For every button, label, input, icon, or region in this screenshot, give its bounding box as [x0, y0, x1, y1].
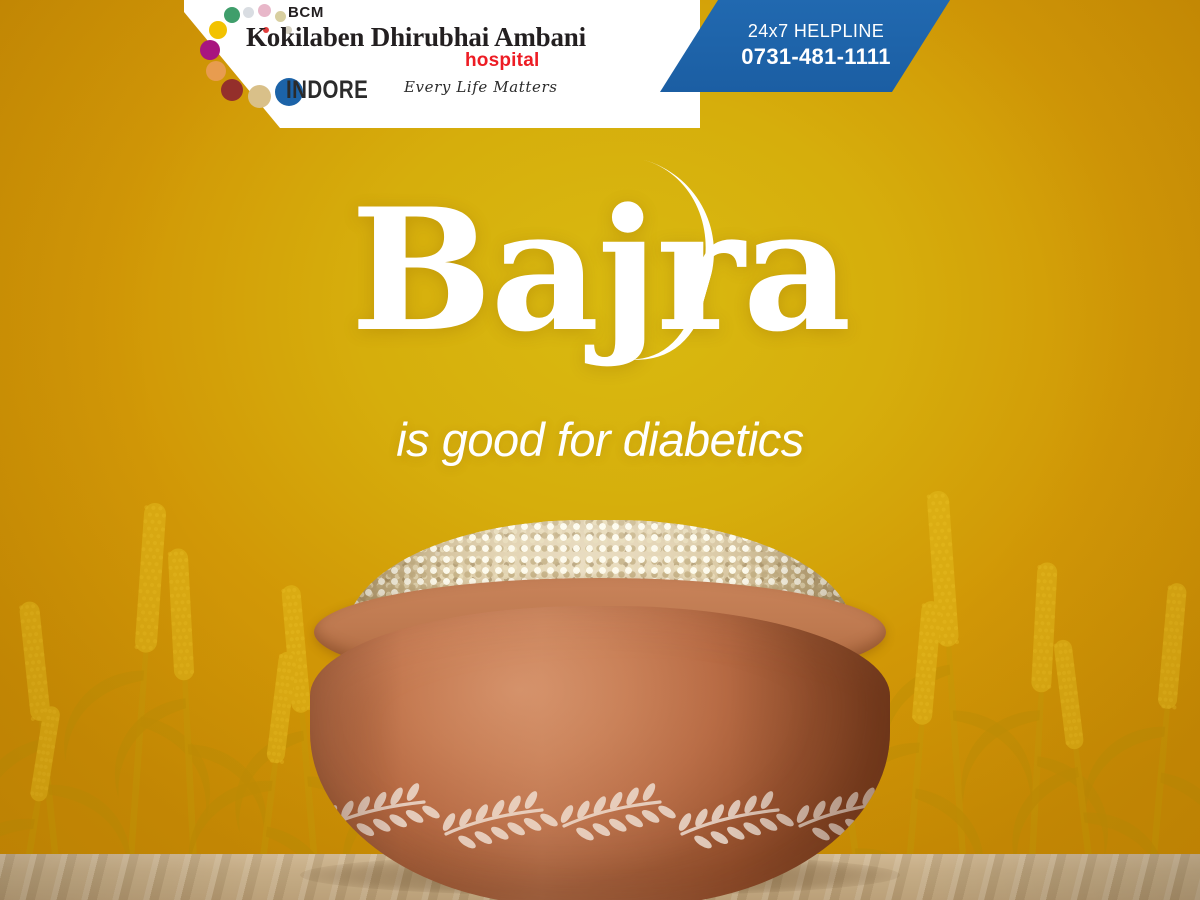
bowl-body	[310, 606, 890, 900]
logo-dot-1	[258, 4, 271, 17]
vine-leaf	[591, 794, 608, 816]
vine-leaf	[656, 803, 677, 821]
vine-leaf	[843, 816, 864, 834]
logo-dot-0	[243, 7, 254, 18]
vine-leaf	[339, 799, 356, 821]
poster-canvas: Bajra is good for diabetics BCM Kokilabe…	[0, 0, 1200, 900]
vine-leaf	[726, 798, 743, 820]
vine-leaf	[693, 807, 710, 829]
logo-tagline: Every Life Matters	[404, 78, 558, 96]
vine-leaf	[456, 833, 477, 851]
vine-leaf	[811, 799, 828, 821]
logo-dot-4	[224, 7, 240, 23]
vine-leaf	[827, 821, 848, 839]
vine-sprig	[558, 781, 677, 843]
logo-bcm-text: BCM	[288, 4, 324, 21]
logo-hospital-word: hospital	[465, 50, 539, 72]
vine-leaf	[404, 781, 421, 803]
vine-leaf	[794, 803, 811, 825]
vine-leaf	[860, 786, 877, 808]
vine-leaf	[506, 794, 523, 816]
vine-leaf	[774, 811, 795, 829]
vine-leaf	[827, 794, 844, 816]
vine-leaf	[591, 821, 612, 839]
logo-city-name: INDORE	[286, 76, 368, 105]
vine-leaf	[607, 816, 628, 834]
vine-leaf	[758, 816, 779, 834]
vine-leaf	[522, 816, 543, 834]
vine-leaf	[640, 808, 661, 826]
vine-leaf	[355, 821, 376, 839]
vine-sprig	[794, 781, 890, 843]
vine-leaf	[741, 820, 762, 838]
logo-hospital-name: Kokilaben Dhirubhai Ambani	[246, 22, 586, 53]
hospital-logo[interactable]: BCM Kokilaben Dhirubhai Ambani hospital …	[184, 0, 700, 128]
headline-letter-b: B	[350, 171, 490, 369]
bowl-leaf-vine-pattern	[310, 756, 890, 876]
vine-leaf	[709, 802, 726, 824]
vine-leaf	[522, 789, 539, 811]
vine-leaf	[709, 829, 730, 847]
vine-leaf	[758, 789, 775, 811]
vine-leaf	[575, 799, 592, 821]
logo-dot-9	[248, 85, 271, 108]
headline-letter-j-swash: j	[597, 186, 656, 354]
vine-sprig	[440, 789, 559, 851]
vine-leaf	[810, 825, 831, 843]
vine-leaf	[338, 825, 359, 843]
vine-leaf	[692, 833, 713, 851]
vine-leaf	[420, 803, 441, 821]
vine-leaf	[322, 803, 339, 825]
vine-leaf	[676, 811, 693, 833]
vine-leaf	[473, 802, 490, 824]
vine-leaf	[372, 790, 389, 812]
vine-leaf	[489, 824, 510, 842]
vine-sprig	[322, 781, 441, 843]
vine-leaf	[574, 825, 595, 843]
vine-leaf	[388, 786, 405, 808]
vine-leaf	[844, 790, 861, 812]
vine-leaf	[355, 794, 372, 816]
vine-leaf	[640, 781, 657, 803]
vine-leaf	[859, 812, 880, 830]
vine-leaf	[876, 808, 890, 826]
bajra-bowl	[310, 520, 890, 900]
vine-leaf	[371, 816, 392, 834]
vine-leaf	[624, 786, 641, 808]
vine-leaf	[876, 781, 890, 803]
vine-leaf	[457, 807, 474, 829]
logo-dot-7	[206, 61, 226, 81]
logo-dot-8	[221, 79, 243, 101]
vine-sprig	[676, 789, 795, 851]
vine-leaf	[742, 794, 759, 816]
logo-dot-2	[275, 11, 286, 22]
vine-leaf	[538, 811, 559, 829]
vine-leaf	[725, 824, 746, 842]
vine-leaf	[387, 812, 408, 830]
headline-letters-ra: ra	[656, 171, 849, 369]
vine-leaf	[404, 808, 425, 826]
headline-letter-a: a	[490, 171, 597, 369]
vine-leaf	[623, 812, 644, 830]
vine-leaf	[558, 803, 575, 825]
vine-leaf	[473, 829, 494, 847]
logo-dot-5	[209, 21, 227, 39]
logo-dot-6	[200, 40, 220, 60]
page-title: Bajra	[0, 186, 1200, 354]
vine-leaf	[505, 820, 526, 838]
vine-leaf	[490, 798, 507, 820]
vine-leaf	[608, 790, 625, 812]
page-subtitle: is good for diabetics	[0, 412, 1200, 467]
vine-leaf	[440, 811, 457, 833]
